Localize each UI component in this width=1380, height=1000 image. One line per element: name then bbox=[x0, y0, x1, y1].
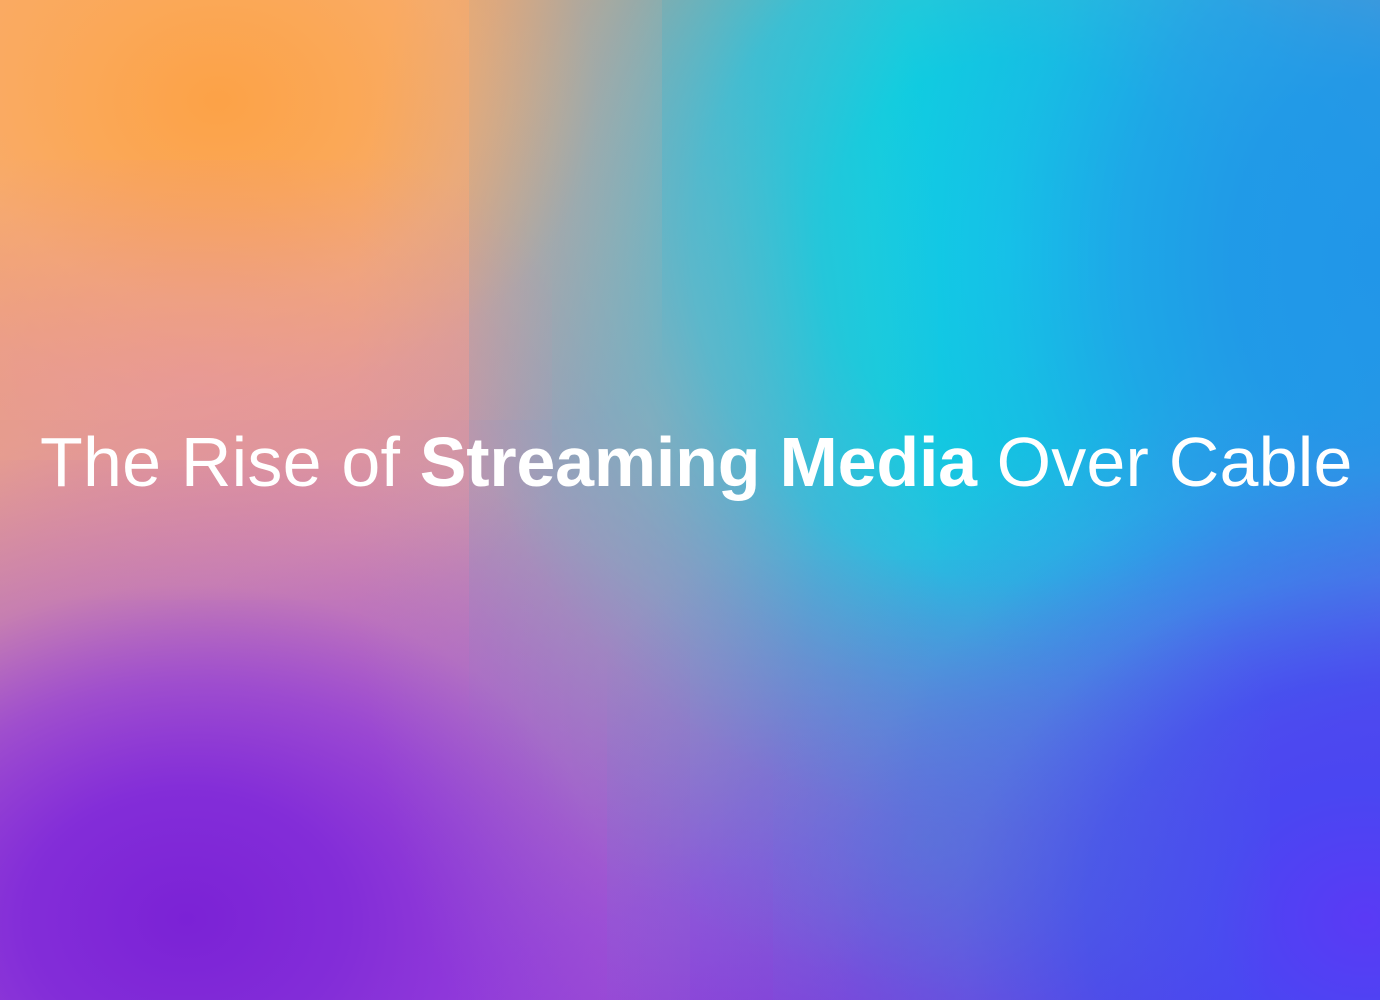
title-segment-lead: The Rise of bbox=[40, 423, 420, 501]
page-title: The Rise of Streaming Media Over Cable bbox=[0, 423, 1353, 501]
title-segment-trail: Over Cable bbox=[977, 423, 1353, 501]
banner-canvas: The Rise of Streaming Media Over Cable bbox=[0, 0, 1380, 1000]
headline-container: The Rise of Streaming Media Over Cable bbox=[0, 0, 1380, 1000]
title-segment-emphasis: Streaming Media bbox=[420, 423, 977, 501]
